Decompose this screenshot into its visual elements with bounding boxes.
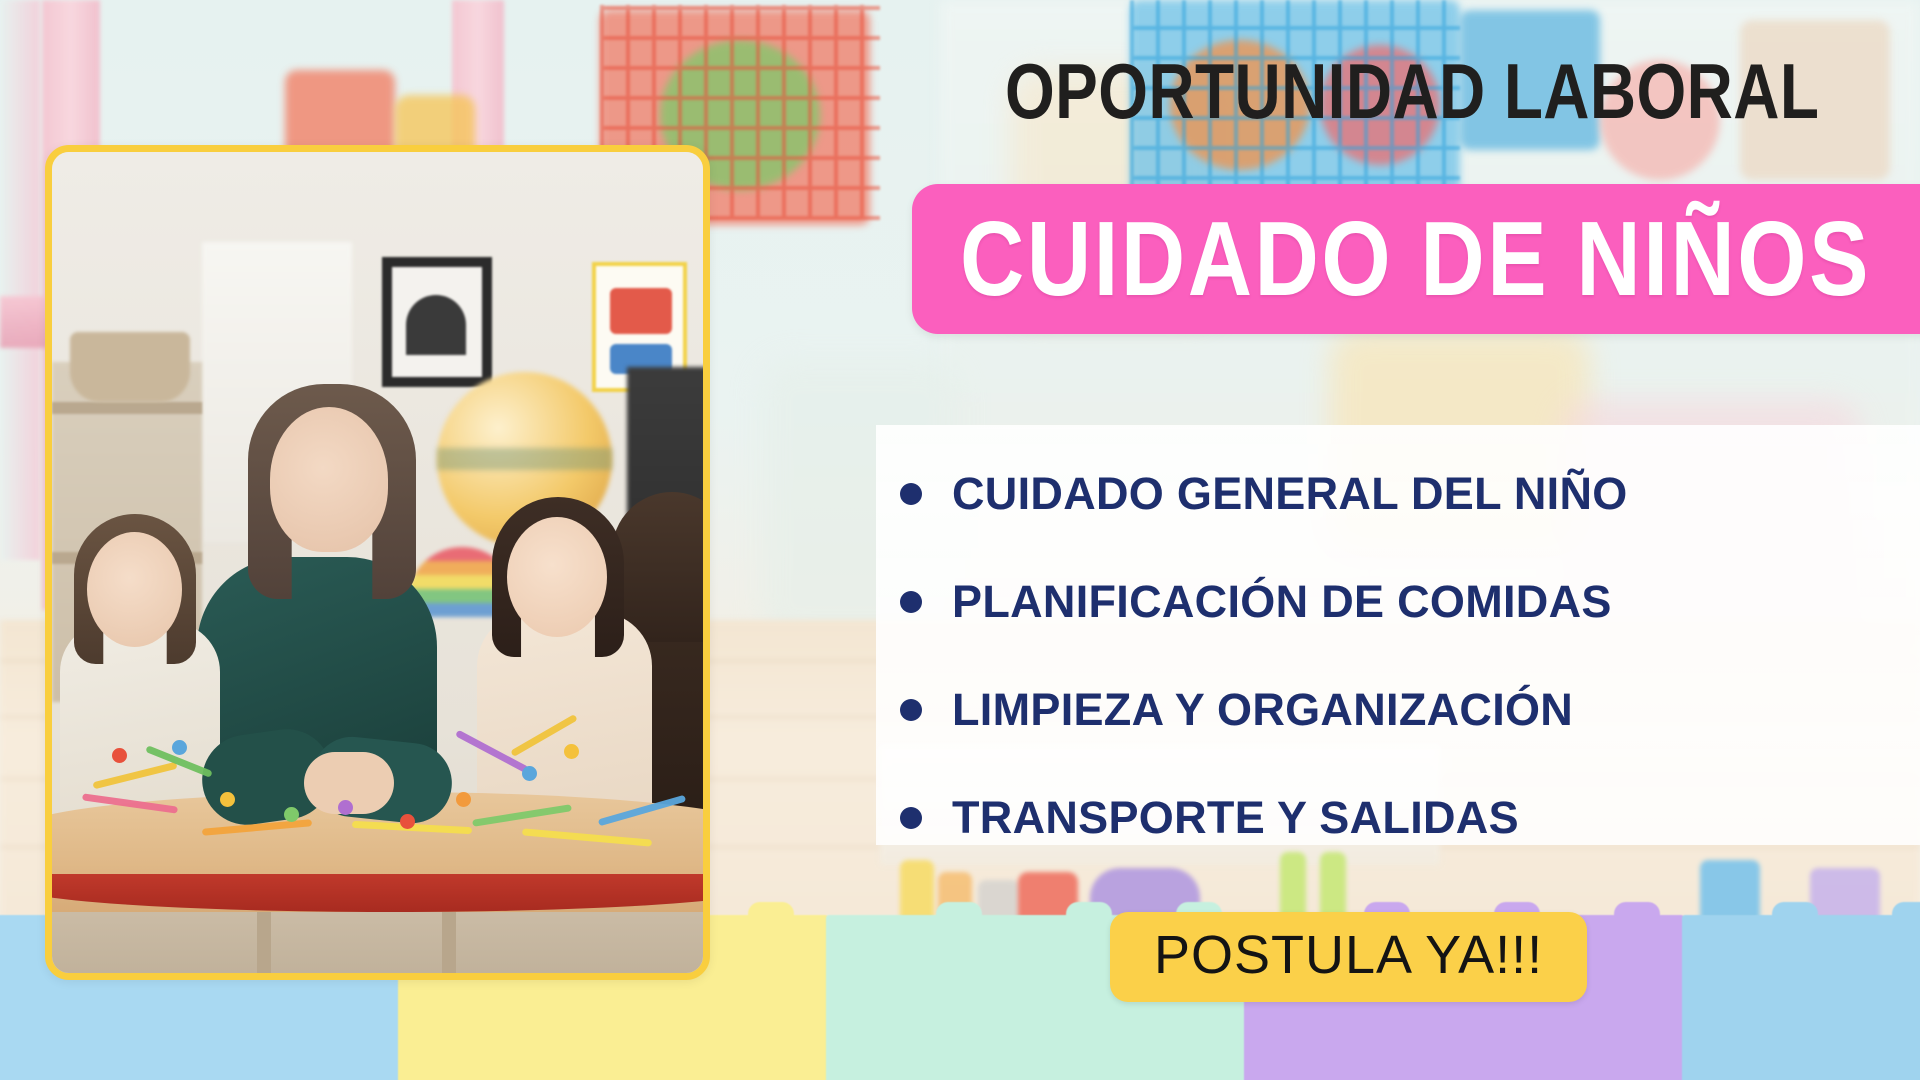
bullet-dot-icon [900,483,922,505]
mat-blue-right [1682,915,1920,1080]
craft-bead [172,740,187,755]
list-item: TRANSPORTE Y SALIDAS [900,764,1920,872]
craft-bead [522,766,537,781]
craft-bead [400,814,415,829]
photo-under-table [52,908,710,980]
photo-child-middle-head [507,517,607,637]
craft-bead [456,792,471,807]
job-ad-poster: OPORTUNIDAD LABORAL CUIDADO DE NIÑOS CUI… [0,0,1920,1080]
list-item-label: TRANSPORTE Y SALIDAS [952,792,1519,844]
photo-child-left-head [87,532,182,647]
photo-table-leg [442,908,456,980]
bullet-dot-icon [900,591,922,613]
craft-bead [220,792,235,807]
list-item: LIMPIEZA Y ORGANIZACIÓN [900,656,1920,764]
photo-globe-band [437,448,612,470]
page-title: OPORTUNIDAD LABORAL [1005,52,1819,130]
apply-now-button[interactable]: POSTULA YA!!! [1110,912,1587,1002]
craft-bead [564,744,579,759]
list-item-label: LIMPIEZA Y ORGANIZACIÓN [952,684,1573,736]
shelf-post [0,0,40,560]
photo-basket [70,332,190,402]
list-item-label: PLANIFICACIÓN DE COMIDAS [952,576,1612,628]
list-item: PLANIFICACIÓN DE COMIDAS [900,548,1920,656]
responsibilities-list: CUIDADO GENERAL DEL NIÑO PLANIFICACIÓN D… [900,440,1920,872]
craft-bead [112,748,127,763]
job-title-text: CUIDADO DE NIÑOS [960,206,1871,312]
photo-teacher-head [270,407,388,552]
photo-wall-frame [382,257,492,387]
job-title-banner: CUIDADO DE NIÑOS [912,184,1920,334]
list-item-label: CUIDADO GENERAL DEL NIÑO [952,468,1628,520]
bullet-dot-icon [900,807,922,829]
bullet-dot-icon [900,699,922,721]
craft-bead [284,807,299,822]
list-item: CUIDADO GENERAL DEL NIÑO [900,440,1920,548]
craft-bead [338,800,353,815]
photo-table-leg [257,908,271,980]
hero-photo [45,145,710,980]
photo-shelf-board [52,402,202,414]
